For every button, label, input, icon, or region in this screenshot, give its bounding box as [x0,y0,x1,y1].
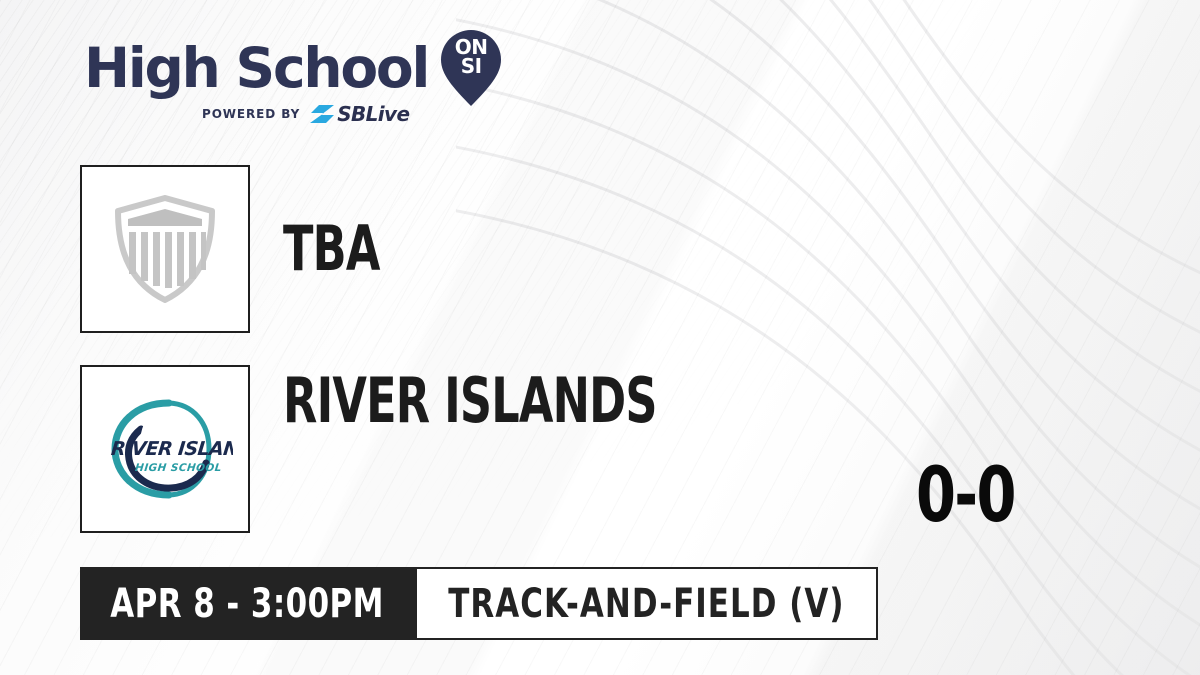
sblive-s-icon [309,104,335,124]
sport-label: TRACK-AND-FIELD (V) [448,583,844,625]
svg-text:HIGH SCHOOL: HIGH SCHOOL [134,462,222,474]
map-pin-text: ON SI [440,38,502,76]
brand-lockup: High School ON SI POWERED BY SBLive [84,36,514,136]
generic-shield-crest-icon [113,195,217,303]
datetime-bar: APR 8 - 3:00PM [80,567,415,640]
map-pin-icon: ON SI [440,30,502,106]
brand-row: High School ON SI [84,36,514,100]
team-name-1: TBA [283,218,380,280]
powered-by-label: POWERED BY [202,107,300,121]
powered-by-row: POWERED BY SBLive [202,104,514,124]
river-islands-logo-icon: RIVER ISLANDS HIGH SCHOOL [97,393,233,505]
team-name-2: RIVER ISLANDS [283,370,657,432]
svg-text:RIVER ISLANDS: RIVER ISLANDS [110,438,233,460]
team-logo-card-2: RIVER ISLANDS HIGH SCHOOL [80,365,250,533]
matchup-graphic: High School ON SI POWERED BY SBLive [0,0,1200,675]
brand-wordmark: High School [84,39,428,97]
datetime-label: APR 8 - 3:00PM [111,583,385,625]
pin-line-si: SI [461,54,482,78]
score-display: 0-0 [916,455,1015,535]
sblive-wordmark: SBLive [337,102,409,126]
team-logo-card-1 [80,165,250,333]
sport-bar: TRACK-AND-FIELD (V) [415,567,878,640]
